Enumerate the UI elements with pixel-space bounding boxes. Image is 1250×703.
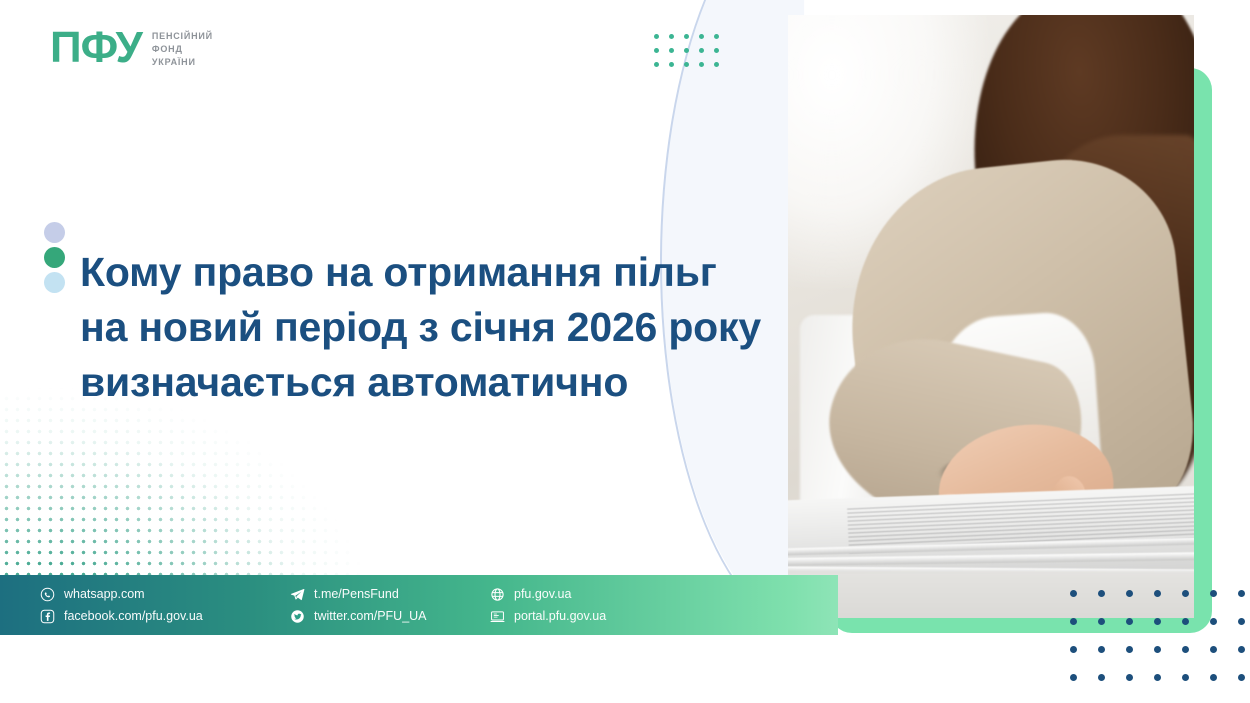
- hero-photo-inner: [788, 15, 1194, 618]
- footer-contact-bar: whatsapp.com facebook.com/pfu.gov.ua: [0, 575, 790, 635]
- bullet-dot-green: [44, 247, 65, 268]
- headline-bullet-dots: [44, 222, 65, 293]
- footer-column-web: pfu.gov.ua portal.pfu.gov.ua: [490, 587, 710, 624]
- whatsapp-icon: [40, 587, 55, 602]
- pfu-logo[interactable]: ПФУ ПЕНСІЙНИЙ ФОНД УКРАЇНИ: [50, 26, 213, 70]
- footer-green-tail: [790, 575, 838, 635]
- globe-icon: [490, 587, 505, 602]
- pfu-logo-line-1: ПЕНСІЙНИЙ: [152, 31, 213, 42]
- pfu-logo-line-2: ФОНД: [152, 44, 213, 55]
- top-dot-matrix: [654, 34, 729, 76]
- footer-columns: whatsapp.com facebook.com/pfu.gov.ua: [0, 587, 790, 624]
- footer-column-messengers: t.me/PensFund twitter.com/PFU_UA: [290, 587, 490, 624]
- pfu-logo-wordmark: ПЕНСІЙНИЙ ФОНД УКРАЇНИ: [152, 29, 213, 68]
- portal-icon: [490, 609, 505, 624]
- contact-facebook-label: facebook.com/pfu.gov.ua: [64, 609, 203, 623]
- pfu-logo-mark: ПФУ: [50, 26, 142, 70]
- telegram-icon: [290, 587, 305, 602]
- contact-whatsapp[interactable]: whatsapp.com: [40, 587, 290, 602]
- contact-whatsapp-label: whatsapp.com: [64, 587, 145, 601]
- contact-website-label: pfu.gov.ua: [514, 587, 571, 601]
- footer-column-social: whatsapp.com facebook.com/pfu.gov.ua: [40, 587, 290, 624]
- facebook-icon: [40, 609, 55, 624]
- bullet-dot-lavender: [44, 222, 65, 243]
- contact-website[interactable]: pfu.gov.ua: [490, 587, 710, 602]
- bottom-right-dot-matrix: [1070, 590, 1250, 702]
- social-card-canvas: ПФУ ПЕНСІЙНИЙ ФОНД УКРАЇНИ Кому право на…: [0, 0, 1250, 703]
- contact-twitter[interactable]: twitter.com/PFU_UA: [290, 609, 490, 624]
- hero-photo: [788, 15, 1194, 618]
- bullet-dot-blue: [44, 272, 65, 293]
- contact-portal-label: portal.pfu.gov.ua: [514, 609, 606, 623]
- contact-telegram[interactable]: t.me/PensFund: [290, 587, 490, 602]
- page-title: Кому право на отримання пільг на новий п…: [80, 245, 770, 410]
- contact-twitter-label: twitter.com/PFU_UA: [314, 609, 427, 623]
- contact-portal[interactable]: portal.pfu.gov.ua: [490, 609, 710, 624]
- contact-telegram-label: t.me/PensFund: [314, 587, 399, 601]
- contact-facebook[interactable]: facebook.com/pfu.gov.ua: [40, 609, 290, 624]
- twitter-icon: [290, 609, 305, 624]
- pfu-logo-line-3: УКРАЇНИ: [152, 57, 213, 68]
